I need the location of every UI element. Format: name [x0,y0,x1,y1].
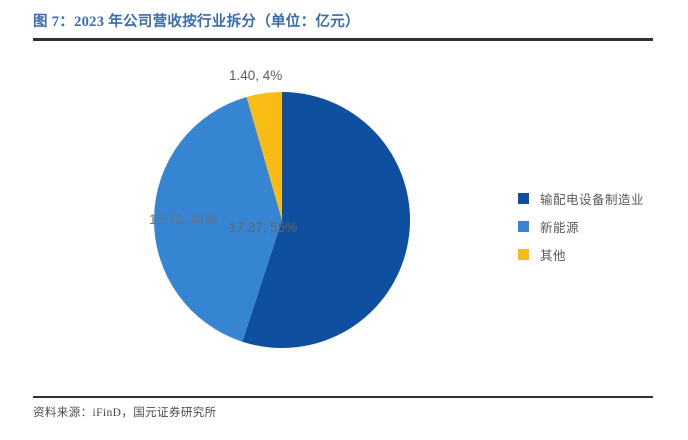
source-note: 资料来源：iFinD，国元证券研究所 [33,404,217,420]
legend-item-label: 新能源 [540,217,579,236]
legend-item-other[interactable]: 其他 [518,240,658,268]
title-divider [33,38,653,41]
legend-item-new-energy[interactable]: 新能源 [518,212,658,240]
legend-swatch-icon [518,193,529,204]
legend-swatch-icon [518,249,529,260]
legend-item-label: 其他 [540,245,566,264]
legend-swatch-icon [518,221,529,232]
page-title: 图 7：2023 年公司营收按行业拆分（单位：亿元） [33,12,655,32]
pie-label-new-energy: 12.72, 41% [149,212,217,227]
chart-plot-area: 1.40, 4% 12.72, 41% 17.27, 55% 输配电设备制造业 … [33,46,655,388]
pie-label-power-equipment: 17.27, 55% [229,220,297,235]
legend-item-label: 输配电设备制造业 [540,189,644,208]
figure-container: 图 7：2023 年公司营收按行业拆分（单位：亿元） 1.40, 4% 12.7… [0,0,688,440]
pie-chart: 1.40, 4% 12.72, 41% 17.27, 55% [33,46,493,388]
title-block: 图 7：2023 年公司营收按行业拆分（单位：亿元） [33,12,655,41]
pie-label-other: 1.40, 4% [229,68,282,83]
legend-item-power-equipment[interactable]: 输配电设备制造业 [518,184,658,212]
footer-divider [33,396,653,398]
chart-legend: 输配电设备制造业 新能源 其他 [518,184,658,268]
pie-chart-svg [33,46,493,388]
